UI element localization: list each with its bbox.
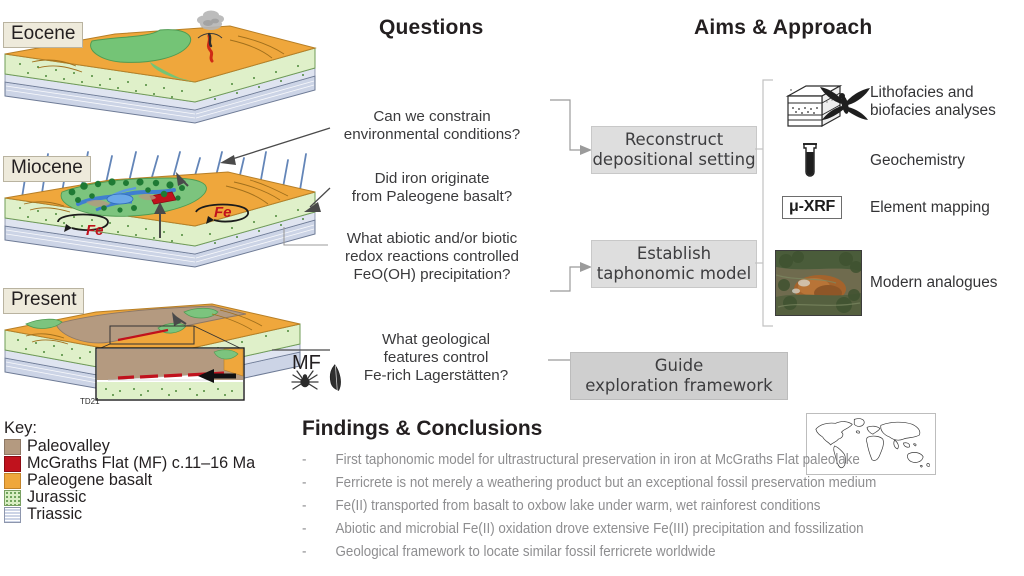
dragonfly-icon: [818, 84, 874, 128]
method-label-element-mapping: Element mapping: [870, 199, 990, 217]
question-redox-line2: redox reactions controlled: [322, 248, 542, 266]
finding-dash-2: -: [302, 475, 306, 491]
legend-swatch-jurassic: [4, 490, 21, 506]
finding-dash-3: -: [302, 498, 306, 514]
outcrop-photo: [775, 250, 862, 316]
finding-dash-5: -: [302, 544, 306, 560]
legend-title: Key:: [4, 419, 284, 438]
question-environment: Can we constrain environmental condition…: [324, 108, 540, 144]
method-lithofacies-line1: Lithofacies and: [870, 84, 996, 102]
aim-box-exploration[interactable]: Guide exploration framework: [570, 352, 788, 400]
era-label-eocene: Eocene: [3, 22, 83, 48]
findings-list: - First taphonomic model for ultrastruct…: [302, 452, 1016, 567]
legend-item-paleovalley: Paleovalley: [4, 438, 284, 455]
aim-reconstruct-line2: depositional setting: [592, 150, 755, 170]
legend-label-paleovalley: Paleovalley: [27, 438, 110, 454]
finding-row: - Fe(II) transported from basalt to oxbo…: [302, 498, 966, 521]
legend-swatch-mcgraths-flat: [4, 456, 21, 472]
question-iron-origin: Did iron originate from Paleogene basalt…: [324, 170, 540, 206]
legend-label-triassic: Triassic: [27, 506, 82, 522]
legend-item-triassic: Triassic: [4, 506, 284, 523]
finding-dash-1: -: [302, 452, 306, 468]
aim-taphonomic-line2: taphonomic model: [597, 264, 752, 284]
legend-label-jurassic: Jurassic: [27, 489, 86, 505]
legend-label-mcgraths-flat: McGraths Flat (MF) c.11–16 Ma: [27, 455, 255, 471]
legend-label-paleogene-basalt: Paleogene basalt: [27, 472, 152, 488]
header-findings: Findings & Conclusions: [302, 417, 542, 441]
question-iron-origin-line1: Did iron originate: [324, 170, 540, 188]
aim-box-taphonomic[interactable]: Establish taphonomic model: [591, 240, 757, 288]
finding-text-5: Geological framework to locate similar f…: [335, 544, 715, 560]
aim-box-reconstruct[interactable]: Reconstruct depositional setting: [591, 126, 757, 174]
finding-text-3: Fe(II) transported from basalt to oxbow …: [335, 498, 820, 514]
test-tube-icon: [796, 140, 824, 184]
question-geological-features-line2: features control: [346, 349, 526, 367]
question-geological-features-line3: Fe-rich Lagerstätten?: [346, 367, 526, 385]
method-label-lithofacies: Lithofacies and biofacies analyses: [870, 84, 996, 120]
finding-text-1: First taphonomic model for ultrastructur…: [335, 452, 859, 468]
aim-exploration-line1: Guide: [585, 356, 772, 376]
legend-swatch-paleogene-basalt: [4, 473, 21, 489]
aim-reconstruct-line1: Reconstruct: [592, 130, 755, 150]
question-environment-line1: Can we constrain: [324, 108, 540, 126]
question-redox-line3: FeO(OH) precipitation?: [322, 266, 542, 284]
finding-row: - Ferricrete is not merely a weathering …: [302, 475, 966, 498]
finding-text-4: Abiotic and microbial Fe(II) oxidation d…: [335, 521, 863, 537]
question-redox: What abiotic and/or biotic redox reactio…: [322, 230, 542, 284]
question-iron-origin-line2: from Paleogene basalt?: [324, 188, 540, 206]
era-label-present: Present: [3, 288, 84, 314]
inset-label-td21: TD21: [80, 397, 100, 406]
aim-taphonomic-line1: Establish: [597, 244, 752, 264]
infographic-root: Questions Aims & Approach: [0, 0, 1024, 576]
finding-row: - Geological framework to locate similar…: [302, 544, 966, 567]
finding-text-2: Ferricrete is not merely a weathering pr…: [335, 475, 876, 491]
method-label-geochemistry: Geochemistry: [870, 152, 965, 170]
header-aims: Aims & Approach: [694, 16, 872, 40]
era-label-miocene: Miocene: [3, 156, 91, 182]
legend-item-jurassic: Jurassic: [4, 489, 284, 506]
legend-swatch-paleovalley: [4, 439, 21, 455]
legend-key: Key: Paleovalley McGraths Flat (MF) c.11…: [4, 419, 284, 523]
question-redox-line1: What abiotic and/or biotic: [322, 230, 542, 248]
legend-swatch-triassic: [4, 507, 21, 523]
question-geological-features-line1: What geological: [346, 331, 526, 349]
finding-row: - Abiotic and microbial Fe(II) oxidation…: [302, 521, 966, 544]
question-environment-line2: environmental conditions?: [324, 126, 540, 144]
method-label-modern-analogues: Modern analogues: [870, 274, 998, 292]
legend-item-paleogene-basalt: Paleogene basalt: [4, 472, 284, 489]
fe-label-left: Fe: [86, 222, 104, 239]
xrf-chip-icon: μ-XRF: [782, 196, 842, 219]
aim-exploration-line2: exploration framework: [585, 376, 772, 396]
header-questions: Questions: [379, 16, 483, 40]
legend-item-mcgraths-flat: McGraths Flat (MF) c.11–16 Ma: [4, 455, 284, 472]
finding-dash-4: -: [302, 521, 306, 537]
finding-row: - First taphonomic model for ultrastruct…: [302, 452, 966, 475]
question-geological-features: What geological features control Fe-rich…: [346, 331, 526, 385]
method-lithofacies-line2: biofacies analyses: [870, 102, 996, 120]
